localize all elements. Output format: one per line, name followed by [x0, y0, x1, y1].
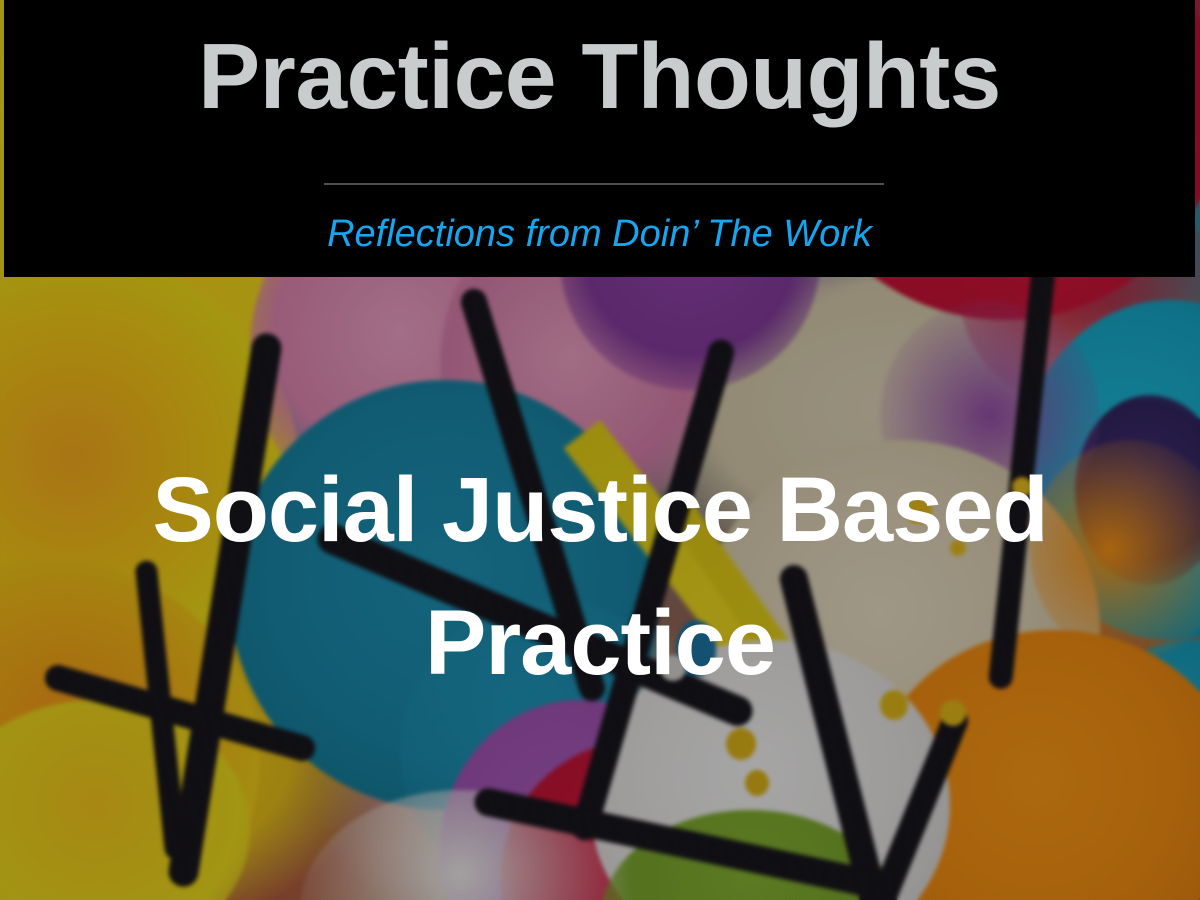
- header-divider: [324, 183, 884, 185]
- site-title[interactable]: Practice Thoughts: [4, 24, 1195, 128]
- site-tagline: Reflections from Doin’ The Work: [4, 212, 1195, 258]
- site-header-band: Practice Thoughts Reflections from Doin’…: [4, 0, 1195, 277]
- post-title[interactable]: Social Justice Based Practice: [70, 444, 1130, 711]
- blog-header-slide: Practice Thoughts Reflections from Doin’…: [0, 0, 1200, 900]
